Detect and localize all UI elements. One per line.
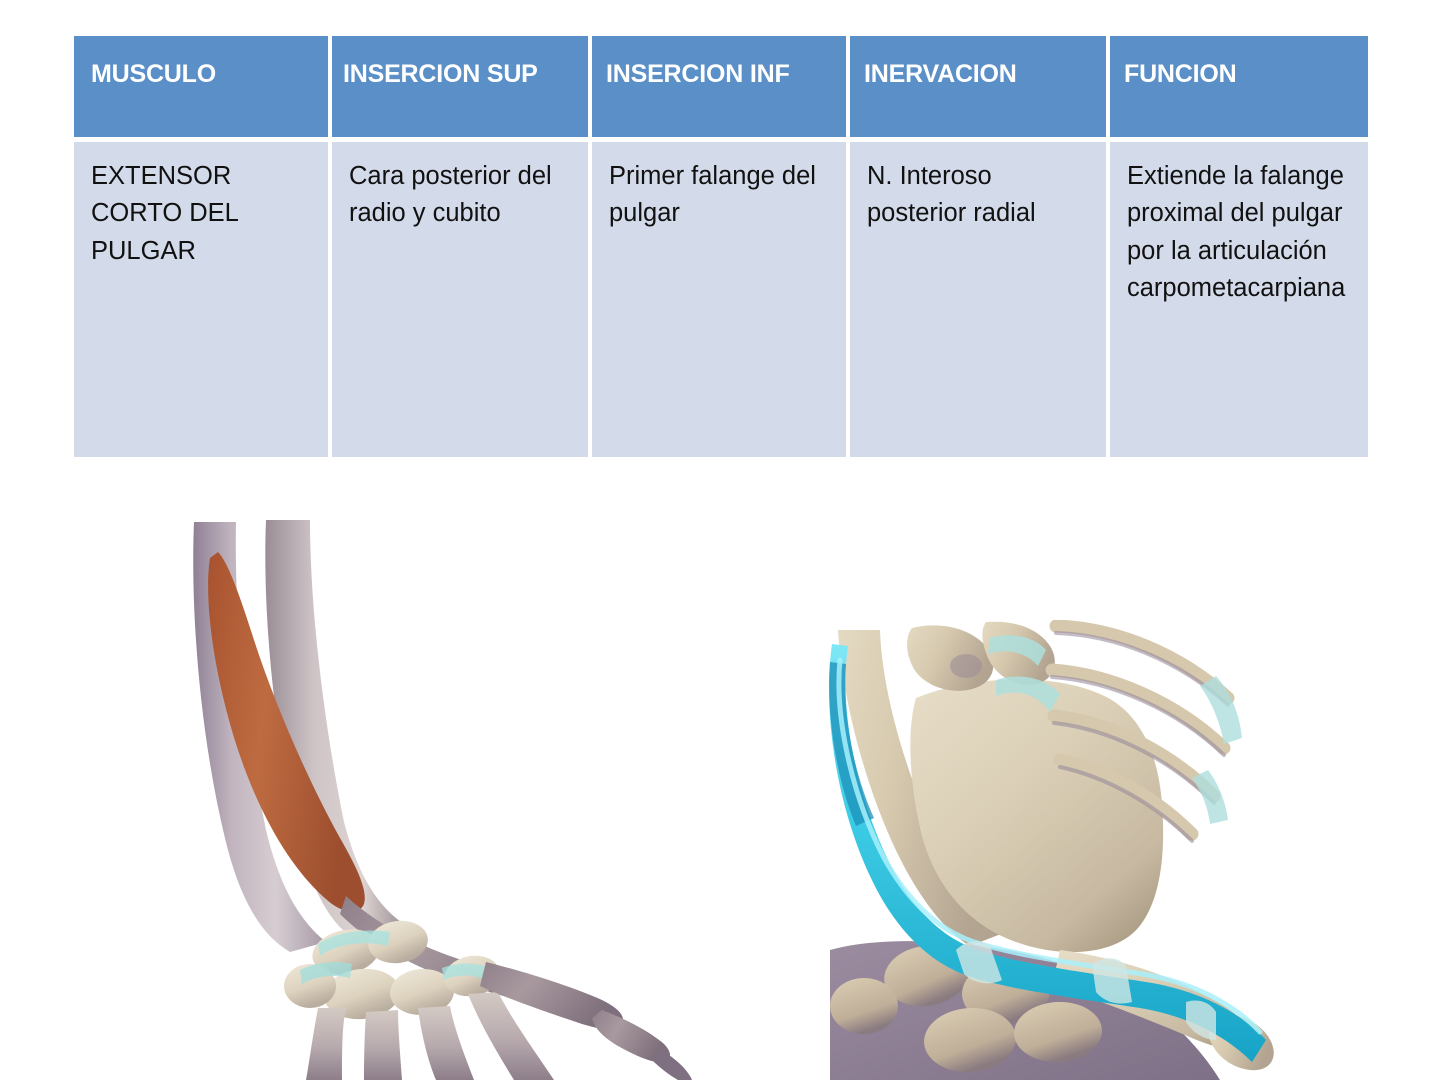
cell-insercion-sup: Cara posterior del radio y cubito [332,142,588,457]
cell-funcion: Extiende la falange proximal del pulgar … [1110,142,1368,457]
column-header-insercion-inf: INSERCION INF [592,36,846,137]
table-header-row: MUSCULO INSERCION SUP INSERCION INF INER… [74,36,1368,137]
column-header-funcion: FUNCION [1110,36,1368,137]
forearm-muscle-illustration [150,500,710,1080]
cell-musculo: EXTENSOR CORTO DEL PULGAR [74,142,328,457]
thumb-tendon-svg [820,620,1290,1080]
column-header-musculo: MUSCULO [74,36,328,137]
cell-insercion-inf: Primer falange del pulgar [592,142,846,457]
cell-inervacion: N. Interoso posterior radial [850,142,1106,457]
thumb-distal-phalanx [652,1048,692,1080]
table-row: EXTENSOR CORTO DEL PULGAR Cara posterior… [74,142,1368,457]
column-header-inervacion: INERVACION [850,36,1106,137]
forearm-muscle-svg [150,500,710,1080]
column-header-insercion-sup: INSERCION SUP [332,36,588,137]
muscle-info-table: MUSCULO INSERCION SUP INSERCION INF INER… [74,36,1368,457]
thumb-tendon-illustration [820,620,1290,1080]
